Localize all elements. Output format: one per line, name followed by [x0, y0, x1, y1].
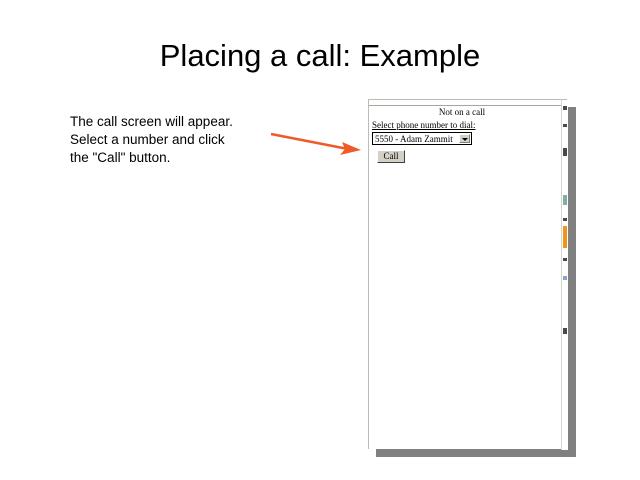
body-text-line: The call screen will appear. — [70, 113, 270, 131]
toolbar-separator — [369, 105, 561, 106]
dial-number-label: Select phone number to dial: — [372, 120, 475, 130]
chevron-down-icon[interactable] — [459, 134, 470, 143]
slide-canvas: Placing a call: Example The call screen … — [0, 0, 640, 480]
call-button[interactable]: Call — [377, 150, 405, 163]
call-status-text: Not on a call — [369, 107, 555, 117]
page-title: Placing a call: Example — [0, 38, 640, 74]
phone-number-select-value: 5550 - Adam Zammit — [375, 134, 453, 144]
body-text-block: The call screen will appear. Select a nu… — [70, 113, 270, 167]
call-screen-window: Not on a call Select phone number to dia… — [368, 99, 567, 449]
scroll-mark-active — [563, 226, 567, 248]
phone-number-select[interactable]: 5550 - Adam Zammit — [372, 132, 472, 145]
scroll-mark — [563, 106, 567, 110]
callout-arrow-icon — [262, 124, 368, 160]
body-text-line: the "Call" button. — [70, 149, 270, 167]
scroll-mark — [563, 276, 567, 280]
embedded-screenshot: Not on a call Select phone number to dia… — [368, 99, 574, 449]
body-text-line: Select a number and click — [70, 131, 270, 149]
scroll-mark — [563, 328, 567, 334]
vertical-scrollbar[interactable] — [561, 100, 568, 450]
scroll-mark — [563, 148, 567, 156]
scroll-mark — [563, 124, 567, 127]
call-screen-content: Not on a call Select phone number to dia… — [369, 107, 561, 448]
scroll-mark — [563, 195, 567, 205]
scroll-mark — [563, 218, 567, 221]
scroll-mark — [563, 258, 567, 261]
